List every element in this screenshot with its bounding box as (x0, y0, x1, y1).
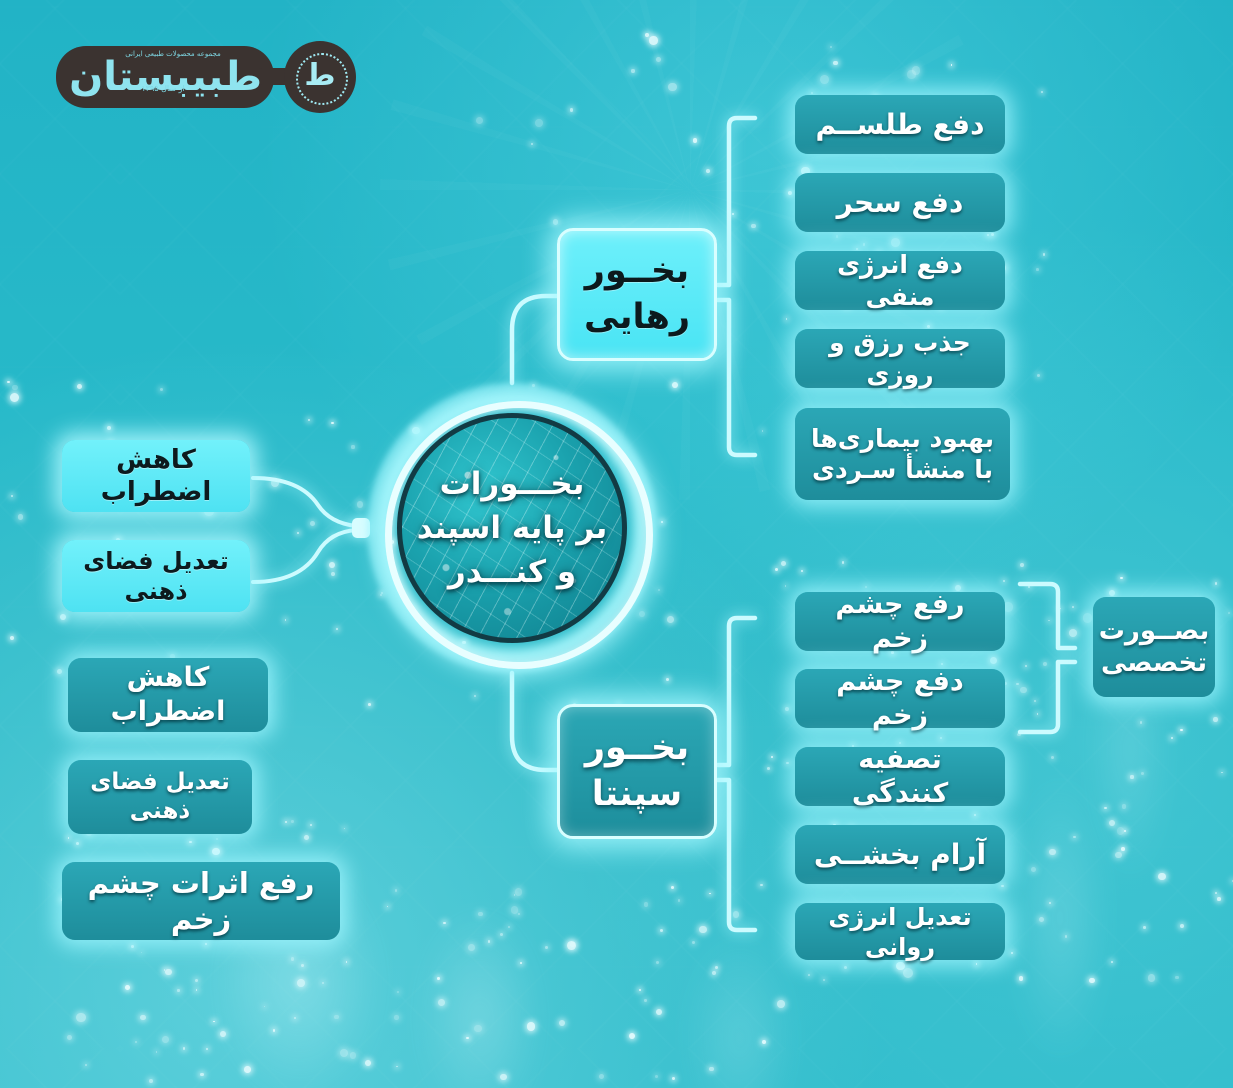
center-title-line: بر پایه اسپند (417, 506, 608, 550)
leaf-item-label: رفع اثرات چشم زخم (74, 865, 328, 938)
center-node-disc: بخـــورات بر پایه اسپند و کنـــدر (397, 413, 627, 643)
leaf-item[interactable]: دفع طلســم (795, 95, 1005, 154)
leaf-item[interactable]: دفع سحر (795, 173, 1005, 232)
leaf-item-label: رفع چشم زخم (807, 588, 993, 656)
leaf-item[interactable]: کاهش اضطراب (68, 658, 268, 732)
center-title-line: بخـــورات (417, 462, 608, 506)
leaf-item[interactable]: تصفیه کنندگی (795, 747, 1005, 806)
leaf-item-label: جذب رزق و روزی (807, 327, 993, 390)
leaf-item-label: دفع سحر (837, 185, 964, 220)
annotation-label-line: تخصصی (1099, 647, 1210, 680)
smoke-wisp (140, 818, 460, 1088)
annotation-label-line: بصــورت (1099, 615, 1210, 648)
leaf-item[interactable]: تعدیل انرژی روانی (795, 903, 1005, 960)
center-node[interactable]: بخـــورات بر پایه اسپند و کنـــدر (367, 383, 657, 673)
center-title-line: و کنـــدر (417, 550, 608, 594)
brand-logo[interactable]: ط مجموعه محصولات طبیعی ایرانی طبیبستان ا… (48, 24, 348, 116)
smoke-wisp (330, 868, 630, 1088)
branch-label-rahaei[interactable]: بخــور رهایی (557, 228, 717, 361)
leaf-item-label: آرام بخشــی (814, 837, 986, 872)
leaf-item-label: با منشأ سـردی (811, 454, 994, 485)
logo-tagline-bottom: از سال ۱۳۹۵ (88, 84, 238, 93)
infographic-canvas: ط مجموعه محصولات طبیعی ایرانی طبیبستان ا… (0, 0, 1233, 1088)
leaf-item[interactable]: بهبود بیماری‌ها با منشأ سـردی (795, 408, 1010, 500)
leaf-item-label: بهبود بیماری‌ها (811, 423, 994, 454)
leaf-item[interactable]: رفع چشم زخم (795, 592, 1005, 651)
leaf-item-label: کاهش اضطراب (80, 661, 256, 729)
leaf-item-label: تعدیل فضای ذهنی (80, 768, 240, 826)
leaf-item-label: تصفیه کنندگی (807, 743, 993, 811)
leaf-item-label: دفع انرژی منفی (807, 249, 993, 312)
branch-label-sepanta[interactable]: بخــور سپنتا (557, 704, 717, 839)
leaf-item-label: تعدیل فضای ذهنی (74, 546, 238, 606)
logo-emblem-letter: ط (296, 50, 344, 102)
center-node-title: بخـــورات بر پایه اسپند و کنـــدر (407, 462, 618, 594)
leaf-item[interactable]: کاهش اضطراب (62, 440, 250, 512)
leaf-item-label: دفع طلســم (816, 107, 985, 142)
leaf-item[interactable]: دفع انرژی منفی (795, 251, 1005, 310)
logo-wordmark: طبیبستان (72, 48, 262, 106)
branch-label-line: بخــور (584, 249, 690, 295)
leaf-item[interactable]: رفع اثرات چشم زخم (62, 862, 340, 940)
leaf-item-label: کاهش اضطراب (74, 444, 238, 509)
branch-label-line: رهایی (584, 295, 690, 341)
branch-label-line: سپنتا (585, 772, 689, 818)
leaf-item-label: تعدیل انرژی روانی (807, 902, 993, 962)
branch-label-line: بخــور (585, 726, 689, 772)
leaf-item[interactable]: دفع چشم زخم (795, 669, 1005, 728)
leaf-item[interactable]: آرام بخشــی (795, 825, 1005, 884)
annotation-specialized[interactable]: بصــورت تخصصی (1093, 597, 1215, 697)
leaf-item[interactable]: جذب رزق و روزی (795, 329, 1005, 388)
leaf-item[interactable]: تعدیل فضای ذهنی (68, 760, 252, 834)
leaf-item-label: دفع چشم زخم (807, 665, 993, 733)
leaf-item[interactable]: تعدیل فضای ذهنی (62, 540, 250, 612)
